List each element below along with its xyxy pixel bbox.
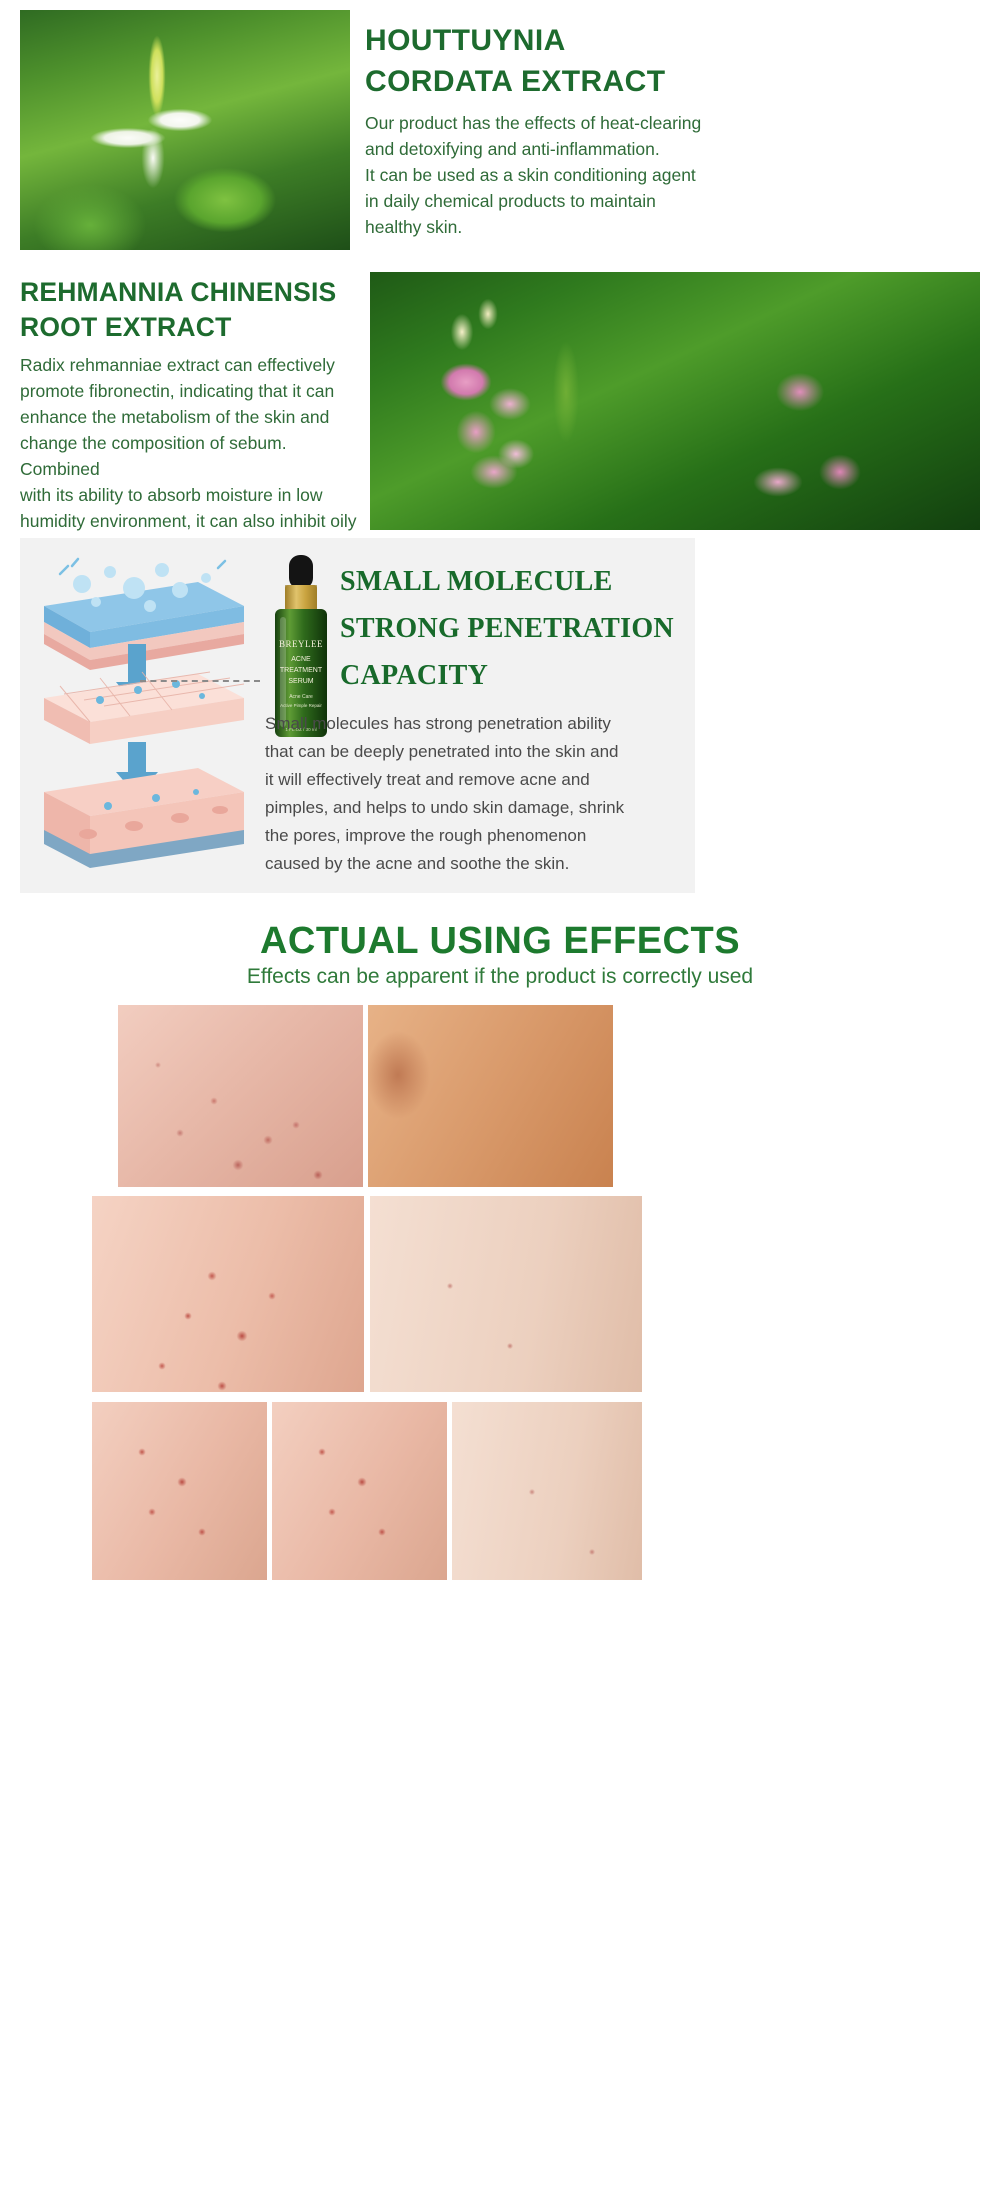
skin-layer-penetration-diagram [30, 548, 260, 883]
effects-title: ACTUAL USING EFFECTS [0, 920, 1000, 963]
rehmannia-body-line-6: humidity environment, it can also inhibi… [20, 508, 365, 534]
penetration-body-line-6: caused by the acne and soothe the skin. [265, 850, 685, 878]
houttuynia-body-line-5: healthy skin. [365, 214, 985, 240]
rehmannia-title: REHMANNIA CHINENSIS ROOT EXTRACT [20, 275, 365, 345]
svg-text:SERUM: SERUM [288, 678, 313, 685]
penetration-body-line-4: pimples, and helps to undo skin damage, … [265, 794, 685, 822]
rehmannia-text-block: REHMANNIA CHINENSIS ROOT EXTRACT Radix r… [20, 275, 365, 560]
houttuynia-title-line1: HOUTTUYNIA [365, 20, 985, 61]
svg-text:Active Pimple Repair: Active Pimple Repair [280, 703, 322, 708]
houttuynia-title: HOUTTUYNIA CORDATA EXTRACT [365, 20, 985, 102]
effects-photo-7 [452, 1402, 642, 1580]
penetration-body-line-1: Small molecules has strong penetration a… [265, 710, 685, 738]
rehmannia-body-line-2: promote fibronectin, indicating that it … [20, 378, 365, 404]
effects-photo-2 [368, 1005, 613, 1187]
rehmannia-body-line-3: enhance the metabolism of the skin and [20, 404, 365, 430]
skin-layer-bottom [44, 768, 244, 868]
svg-text:ACNE: ACNE [291, 656, 311, 663]
houttuynia-text-block: HOUTTUYNIA CORDATA EXTRACT Our product h… [365, 20, 985, 240]
houttuynia-body-line-2: and detoxifying and anti-inflammation. [365, 136, 985, 162]
svg-text:Acne Care: Acne Care [289, 694, 313, 700]
rehmannia-body-line-5: with its ability to absorb moisture in l… [20, 482, 365, 508]
penetration-title-line1: SMALL MOLECULE [340, 558, 690, 605]
houttuynia-body-line-1: Our product has the effects of heat-clea… [365, 110, 985, 136]
effects-photo-4 [370, 1196, 642, 1392]
houttuynia-title-line2: CORDATA EXTRACT [365, 61, 985, 102]
penetration-body-line-3: it will effectively treat and remove acn… [265, 766, 685, 794]
effects-photo-6 [272, 1402, 447, 1580]
skin-diagram-svg [30, 548, 260, 883]
houttuynia-body-line-4: in daily chemical products to maintain [365, 188, 985, 214]
dashed-connector-line [140, 680, 260, 682]
houttuynia-body-line-3: It can be used as a skin conditioning ag… [365, 162, 985, 188]
rehmannia-title-line1: REHMANNIA CHINENSIS [20, 275, 365, 310]
svg-text:BREYLEE: BREYLEE [279, 639, 323, 649]
effects-subtitle: Effects can be apparent if the product i… [0, 965, 1000, 989]
product-detail-page: HOUTTUYNIA CORDATA EXTRACT Our product h… [0, 0, 1000, 2195]
penetration-title-line2: STRONG PENETRATION [340, 605, 690, 652]
penetration-body-line-5: the pores, improve the rough phenomenon [265, 822, 685, 850]
svg-text:TREATMENT: TREATMENT [280, 667, 323, 674]
effects-photo-5 [92, 1402, 267, 1580]
rehmannia-body-line-1: Radix rehmanniae extract can effectively [20, 352, 365, 378]
effects-photo-1 [118, 1005, 363, 1187]
effects-photo-3 [92, 1196, 364, 1392]
skin-layer-middle [44, 672, 244, 744]
houttuynia-body: Our product has the effects of heat-clea… [365, 110, 985, 240]
penetration-title: SMALL MOLECULE STRONG PENETRATION CAPACI… [340, 558, 690, 699]
rehmannia-image [370, 272, 980, 530]
penetration-title-line3: CAPACITY [340, 652, 690, 699]
rehmannia-title-line2: ROOT EXTRACT [20, 310, 365, 345]
penetration-body: Small molecules has strong penetration a… [265, 710, 685, 878]
houttuynia-image [20, 10, 350, 250]
rehmannia-body: Radix rehmanniae extract can effectively… [20, 352, 365, 560]
rehmannia-body-line-4: change the composition of sebum. Combine… [20, 430, 365, 482]
penetration-body-line-2: that can be deeply penetrated into the s… [265, 738, 685, 766]
